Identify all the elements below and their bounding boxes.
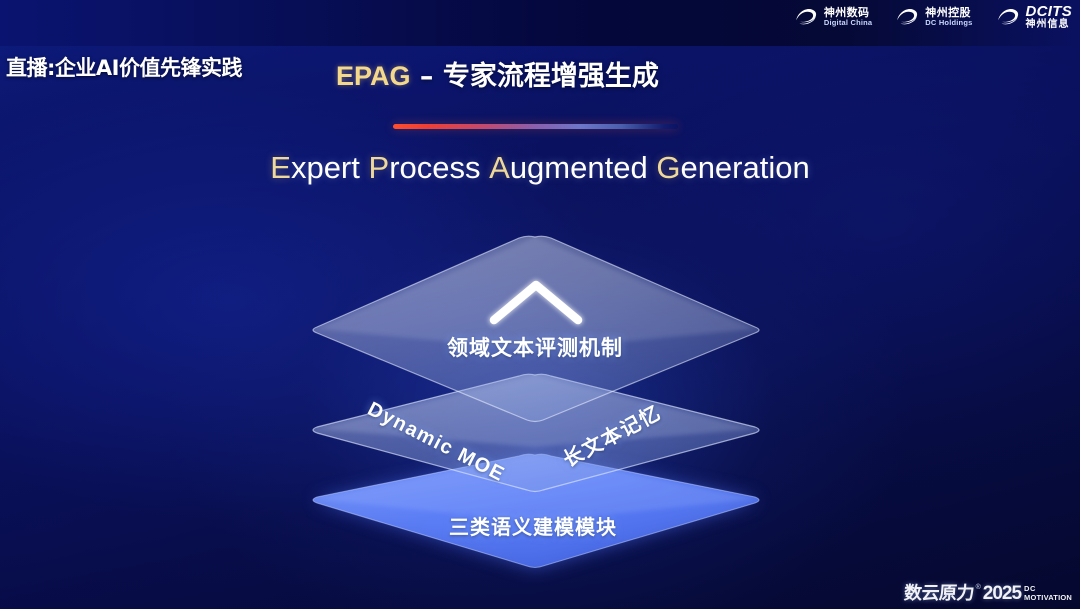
title-divider	[393, 124, 678, 129]
partner-name-en: DC Holdings	[925, 19, 972, 27]
swoosh-icon	[793, 4, 819, 30]
swoosh-icon	[894, 4, 920, 30]
layer-label-top: 领域文本评测机制	[447, 332, 623, 362]
partner-logo-group: 神州数码 Digital China 神州控股 DC Holdings	[793, 4, 1072, 30]
subtitle-initial-g: G	[656, 150, 680, 185]
partner-text-dc-holdings: 神州控股 DC Holdings	[925, 7, 972, 26]
footer-logo-cn: 数云原力	[903, 583, 975, 605]
subtitle-word-expert: xpert	[291, 150, 360, 185]
footer-logo-dc: DC	[1024, 585, 1072, 593]
slide-canvas: 数云原力 ® 2025 DC MOTIVATION 直播:企业AI价值先锋实践 …	[0, 0, 1080, 609]
layer-label-bottom: 三类语义建模模块	[449, 511, 617, 540]
partner-text-dcits: DCITS 神州信息	[1026, 4, 1073, 30]
subtitle-initial-e: E	[270, 150, 291, 185]
partner-logo-digital-china: 神州数码 Digital China	[793, 4, 872, 30]
swoosh-icon	[995, 4, 1021, 30]
partner-text-digital-china: 神州数码 Digital China	[824, 7, 872, 26]
footer-watermark-logo: 数云原力 ® 2025 DC MOTIVATION	[904, 583, 1072, 605]
partner-logo-dc-holdings: 神州控股 DC Holdings	[894, 4, 972, 30]
subtitle-word-augmented: ugmented	[510, 150, 648, 185]
footer-logo-dc-motivation: DC MOTIVATION	[1024, 583, 1072, 601]
page-subtitle: Expert Process Augmented Generation	[0, 150, 1080, 186]
partner-name-en: Digital China	[824, 19, 872, 27]
footer-logo-registered: ®	[976, 583, 981, 593]
live-stream-label: 直播:企业AI价值先锋实践	[6, 52, 242, 82]
page-title-acronym: EPAG	[336, 61, 411, 91]
diagram-layer-top[interactable]	[313, 236, 759, 421]
subtitle-word-generation: eneration	[680, 150, 809, 185]
footer-logo-year: 2025	[983, 583, 1021, 605]
subtitle-initial-p: P	[369, 150, 390, 185]
partner-name-en: DCITS	[1026, 4, 1073, 20]
page-title: EPAG – 专家流程增强生成	[336, 54, 659, 93]
page-title-chinese: 专家流程增强生成	[443, 61, 659, 92]
partner-name-cn: 神州信息	[1026, 20, 1073, 31]
partner-logo-dcits: DCITS 神州信息	[995, 4, 1073, 30]
page-title-dash: –	[411, 61, 443, 92]
subtitle-initial-a: A	[489, 150, 510, 185]
footer-logo-motivation: MOTIVATION	[1024, 594, 1072, 602]
subtitle-word-process: rocess	[389, 150, 480, 185]
